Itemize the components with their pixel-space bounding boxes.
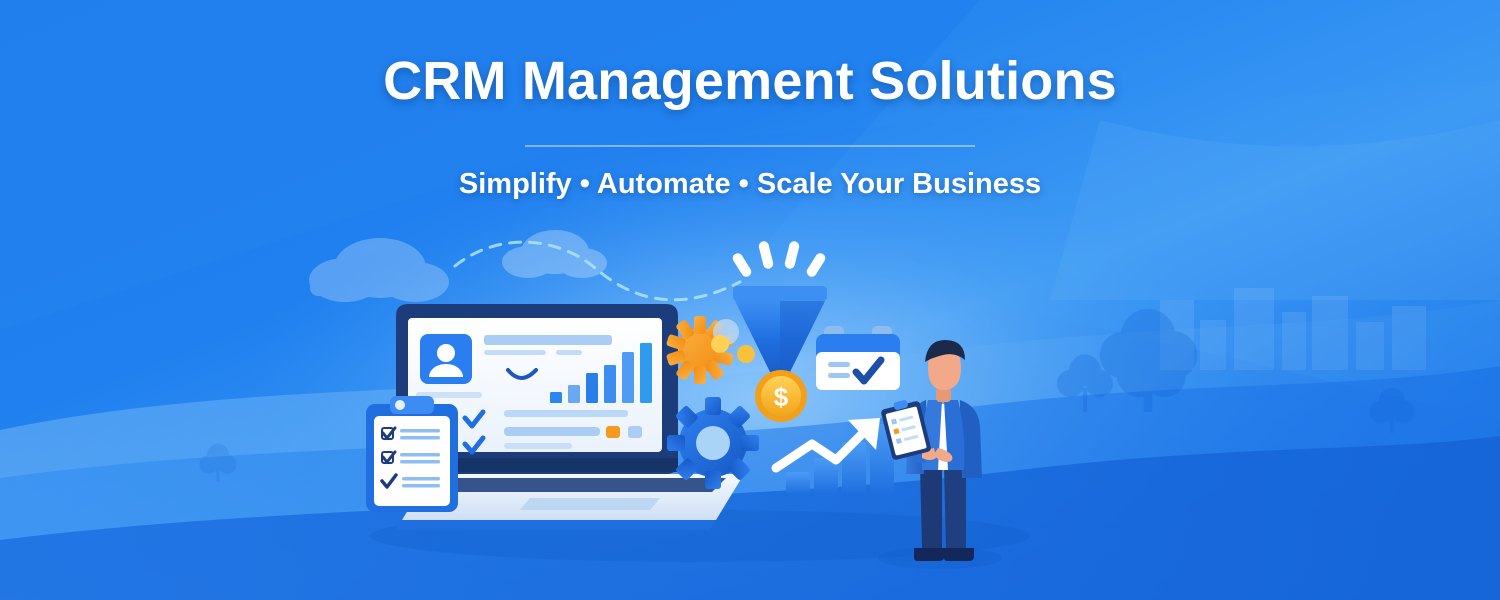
secondary-action-chip — [628, 426, 642, 438]
dashed-connector-arc — [455, 242, 740, 300]
automation-burst — [666, 316, 755, 384]
crm-hero-banner: CRM Management Solutions Simplify • Auto… — [0, 0, 1500, 600]
contact-avatar — [420, 334, 472, 384]
settings-gear — [667, 397, 759, 489]
city-skyline-silhouette — [1160, 288, 1426, 370]
tree-silhouettes — [199, 309, 1414, 482]
sales-funnel — [731, 240, 827, 398]
svg-text:$: $ — [774, 382, 789, 412]
screen-checklist — [465, 410, 642, 452]
growth-bar-chart — [776, 418, 894, 494]
funnel-spark-rays — [731, 240, 827, 278]
page-title: CRM Management Solutions — [0, 50, 1500, 112]
screen-bar-chart — [550, 343, 652, 403]
cloud-right — [502, 230, 607, 278]
title-divider — [525, 145, 975, 147]
dot-gold-2 — [737, 345, 755, 363]
businessman-with-clipboard — [879, 340, 982, 561]
page-subtitle: Simplify • Automate • Scale Your Busines… — [0, 168, 1500, 201]
laptop-dashboard — [396, 304, 744, 530]
primary-action-chip — [606, 426, 620, 438]
checklist-clipboard — [366, 396, 458, 512]
calendar-check — [816, 326, 900, 390]
up-right-arrow — [776, 424, 872, 468]
trend-arc — [508, 370, 536, 378]
dollar-coin: $ — [755, 370, 807, 422]
bubble-light — [713, 319, 739, 345]
cloud-left — [309, 238, 449, 302]
dot-gold-1 — [711, 335, 729, 353]
